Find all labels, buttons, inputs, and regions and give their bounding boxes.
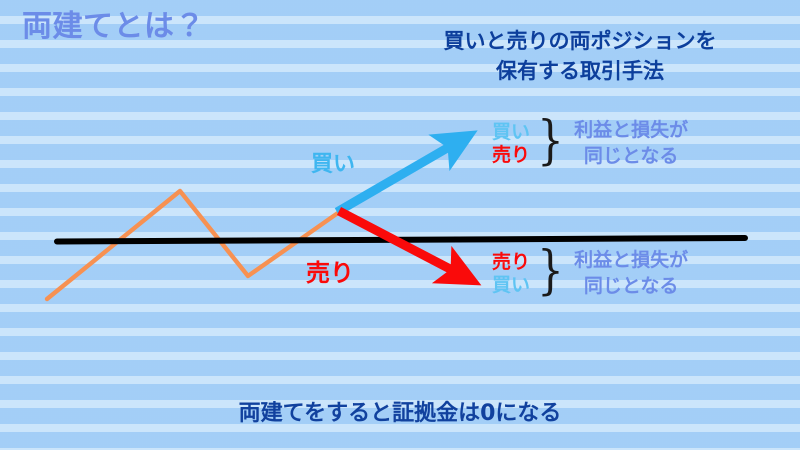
infographic-canvas: 両建てとは？ 買いと売りの両ポジションを 保有する取引手法 買い 売り 買い 売… — [0, 0, 800, 450]
price-path-line — [47, 191, 345, 299]
result-line-2: 同じとなる — [574, 144, 688, 170]
page-title: 両建てとは？ — [22, 8, 205, 46]
curly-brace-icon: } — [537, 121, 563, 162]
position-label-buy: 買い — [492, 274, 530, 296]
position-pair-bottom: 売り 買い — [492, 251, 530, 296]
result-line-1: 利益と損失が — [574, 248, 688, 274]
buy-arrow-label: 買い — [311, 151, 355, 179]
result-line-1: 利益と損失が — [574, 118, 688, 144]
annotation-group-bottom: 売り 買い } 利益と損失が 同じとなる — [492, 248, 688, 299]
result-line-2: 同じとなる — [574, 274, 688, 300]
headline-line-1: 買いと売りの両ポジションを — [380, 26, 780, 56]
headline: 買いと売りの両ポジションを 保有する取引手法 — [380, 26, 780, 87]
position-label-buy: 買い — [492, 121, 530, 143]
position-pair-top: 買い 売り — [492, 121, 530, 166]
headline-line-2: 保有する取引手法 — [380, 56, 780, 86]
annotation-group-top: 買い 売り } 利益と損失が 同じとなる — [492, 118, 688, 169]
curly-brace-icon: } — [537, 251, 563, 292]
footer-caption: 両建てをすると証拠金は0になる — [100, 400, 700, 428]
result-text-bottom: 利益と損失が 同じとなる — [574, 248, 688, 299]
position-label-sell: 売り — [492, 144, 530, 166]
result-text-top: 利益と損失が 同じとなる — [574, 118, 688, 169]
sell-arrow-label: 売り — [306, 258, 354, 288]
position-label-sell: 売り — [492, 251, 530, 273]
